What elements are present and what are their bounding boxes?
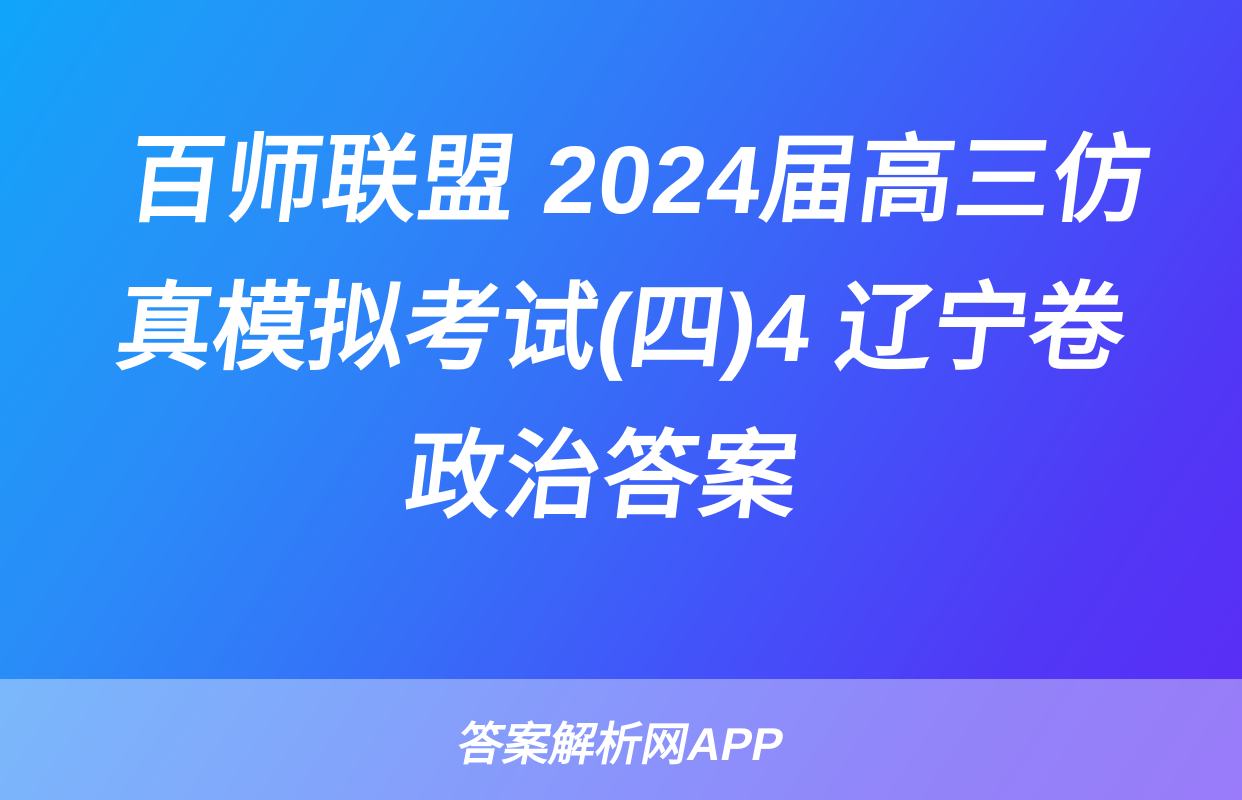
watermark-brand: 答案解析网APP [452, 708, 789, 774]
title-line-1: 百师联盟 2024届高三仿 [65, 107, 1213, 255]
title-stage: 百师联盟 2024届高三仿 真模拟考试(四)4 辽宁卷 政治答案 [0, 0, 1242, 679]
title-line-3: 政治答案 [29, 403, 1177, 551]
footer-band: 答案解析网APP [0, 679, 1242, 800]
answer-poster: 百师联盟 2024届高三仿 真模拟考试(四)4 辽宁卷 政治答案 答案解析网AP… [0, 0, 1242, 800]
page-title: 百师联盟 2024届高三仿 真模拟考试(四)4 辽宁卷 政治答案 [29, 107, 1214, 551]
title-line-2: 真模拟考试(四)4 辽宁卷 [47, 255, 1195, 403]
